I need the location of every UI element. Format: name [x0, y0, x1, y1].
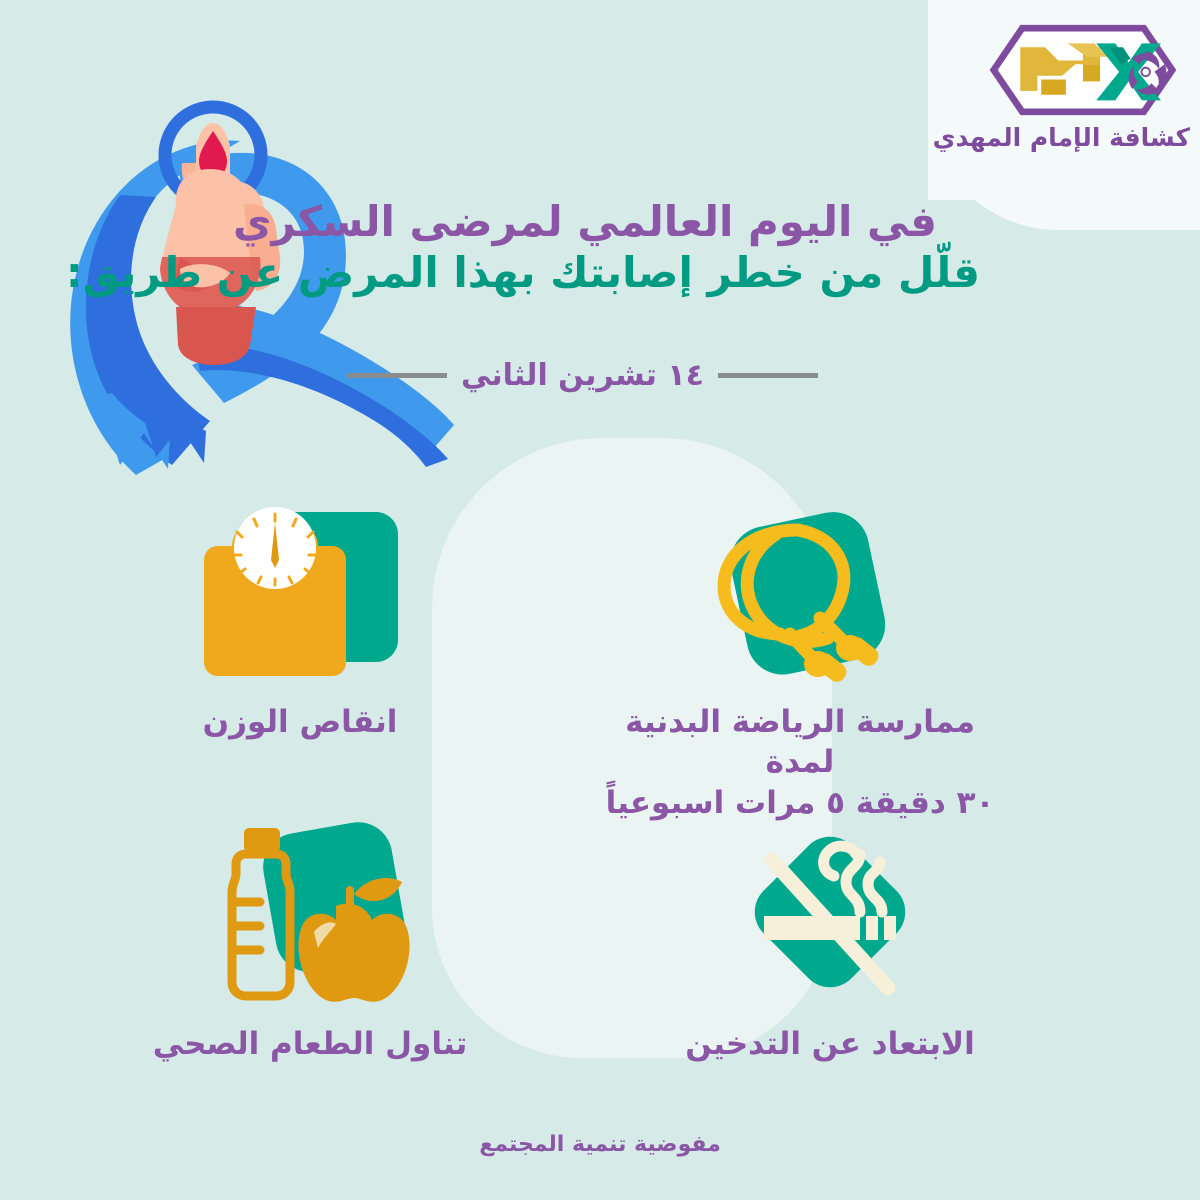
no-smoking-icon [710, 820, 950, 1010]
tip-weight-label: انقاص الوزن [175, 702, 425, 742]
date-rule-left [347, 373, 447, 378]
jump-rope-icon [680, 500, 920, 690]
headline-line-1: في اليوم العالمي لمرضى السكري [190, 196, 980, 247]
tip-exercise-icon-box [680, 500, 920, 690]
page-title: في اليوم العالمي لمرضى السكري قلّل من خط… [190, 196, 980, 298]
headline-line-2: قلّل من خطر إصابتك بهذا المرض عن طريق: [190, 247, 980, 298]
water-bottle-and-apple-icon [190, 820, 430, 1010]
tip-weight-icon-box [180, 500, 420, 690]
brand-logo-name: كشافة الإمام المهدي [975, 124, 1190, 152]
tip-no-smoking: الابتعاد عن التدخين [660, 820, 1000, 1064]
date-rule-right [718, 373, 818, 378]
scouts-hexagon-logo-icon [988, 22, 1178, 118]
footer-text: مفوضية تنمية المجتمع [0, 1132, 1200, 1157]
footer: مفوضية تنمية المجتمع [0, 1132, 1200, 1157]
tip-food-label: تناول الطعام الصحي [150, 1024, 470, 1064]
tip-exercise-label: ممارسة الرياضة البدنية لمدة ٣٠ دقيقة ٥ م… [590, 702, 1010, 823]
tip-food-icon-box [190, 820, 430, 1010]
tip-exercise: ممارسة الرياضة البدنية لمدة ٣٠ دقيقة ٥ م… [590, 500, 1010, 823]
brand-logo: كشافة الإمام المهدي [975, 22, 1190, 182]
event-date: ١٤ تشرين الثاني [355, 358, 810, 393]
tip-smoking-icon-box [710, 820, 950, 1010]
date-text: ١٤ تشرين الثاني [461, 358, 704, 393]
tip-smoking-label: الابتعاد عن التدخين [660, 1024, 1000, 1064]
bathroom-scale-icon [180, 500, 420, 690]
tip-weight-loss: انقاص الوزن [175, 500, 425, 742]
tip-healthy-food: تناول الطعام الصحي [150, 820, 470, 1064]
poster-canvas: كشافة الإمام المهدي في الي [0, 0, 1200, 1200]
